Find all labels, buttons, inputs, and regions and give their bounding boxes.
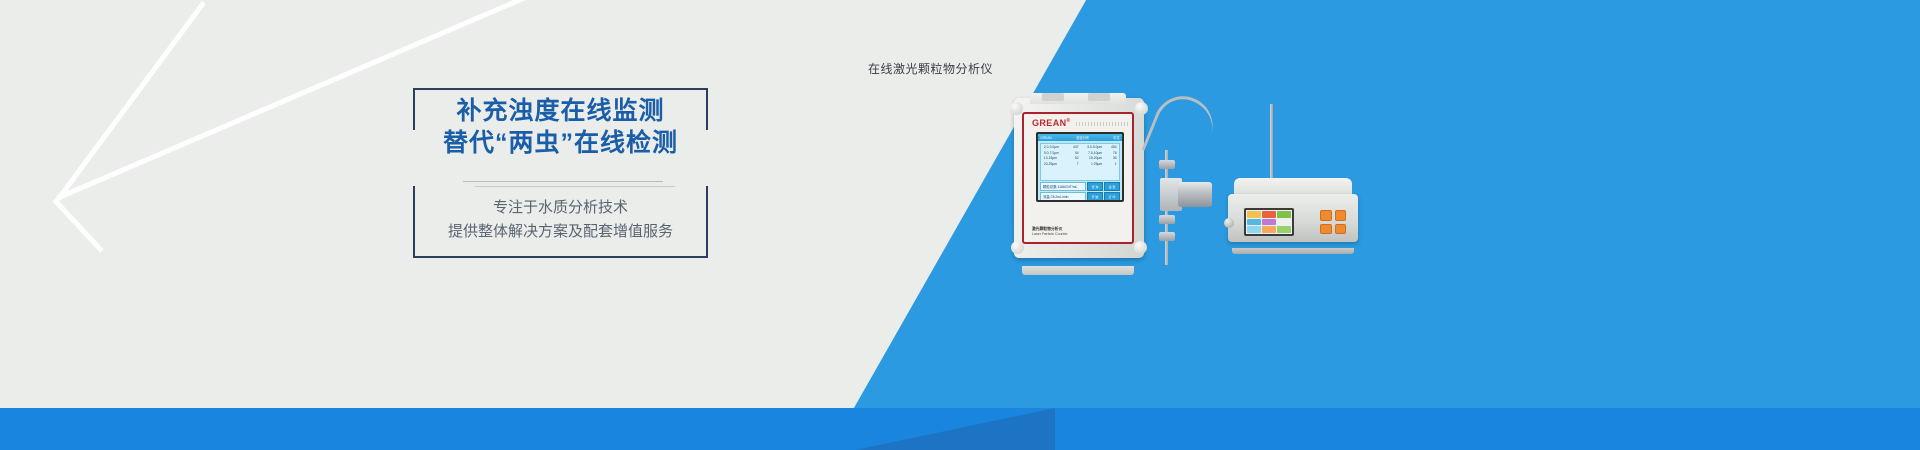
- card-border-bottom: [413, 256, 708, 258]
- headline-line-2: 替代“两虫”在线检测: [413, 128, 708, 159]
- promo-banner: 补充浊度在线监测 替代“两虫”在线检测 专注于水质分析技术 提供整体解决方案及配…: [0, 0, 1920, 450]
- card-border-top: [413, 88, 708, 90]
- benchtop-particle-counter: [1228, 178, 1358, 250]
- status-field-flow-rate: 流量:78.2mL/min: [1040, 192, 1086, 201]
- screen-title-center: 粒径分布: [1076, 135, 1089, 140]
- screen-footer: 颗粒总数:1166CNT/mL 查 询 设 置 流量:78.2mL/min 开 …: [1040, 182, 1120, 201]
- cell-range-b: 15-20μm: [1082, 156, 1102, 161]
- analyzer-lid-notch-right: [1088, 93, 1110, 101]
- callout-online-analyzer: 在线激光颗粒物分析仪: [868, 60, 993, 77]
- subtitle: 专注于水质分析技术 提供整体解决方案及配套增值服务: [413, 196, 708, 245]
- screen-button-query[interactable]: 查 询: [1087, 182, 1103, 191]
- benchtop-base: [1232, 248, 1354, 254]
- cell-range-b: 3.0-5.0μm: [1082, 145, 1102, 150]
- screen-tile: [1262, 219, 1276, 226]
- keypad-button[interactable]: [1335, 210, 1347, 221]
- screen-title-right: 中文: [1113, 135, 1119, 140]
- tube-fitting-middle: [1159, 215, 1175, 224]
- cell-count-a: 7: [1068, 162, 1078, 167]
- screen-tile: [1277, 226, 1291, 233]
- tube-fitting-upper: [1159, 160, 1175, 169]
- analyzer-model-label-en: Laser Particle Counter: [1032, 232, 1068, 236]
- analyzer-hatch-pattern: [1076, 122, 1128, 126]
- screen-button-start[interactable]: 开 始: [1087, 192, 1103, 201]
- analyzer-model-label: 激光颗粒物分析仪 Laser Particle Counter: [1032, 227, 1068, 237]
- cell-count-b: 35: [1106, 156, 1116, 161]
- bench-support-pole: [1270, 104, 1273, 182]
- analyzer-base: [1022, 266, 1134, 275]
- screen-titlebar: GREAN 粒径分布 中文: [1038, 134, 1122, 141]
- cell-count-b: 1: [1106, 162, 1116, 167]
- screen-status-row-2: 流量:78.2mL/min 开 始 打 印: [1040, 192, 1120, 201]
- inline-sensor-cylinder: [1178, 182, 1212, 207]
- cell-range-b: ＞25μm: [1082, 162, 1102, 167]
- benchtop-display-screen[interactable]: [1244, 208, 1294, 236]
- brand-trademark: ®: [1067, 118, 1071, 124]
- cell-count-a: 94: [1068, 151, 1078, 156]
- tube-fitting-lower: [1159, 232, 1175, 241]
- screen-tile: [1247, 226, 1261, 233]
- cell-range-a: 2.0-3.0μm: [1044, 145, 1064, 150]
- cell-range-a: 10-15μm: [1044, 156, 1064, 161]
- headline: 补充浊度在线监测 替代“两虫”在线检测: [413, 96, 708, 158]
- cell-count-a: 447: [1068, 145, 1078, 150]
- online-laser-particle-analyzer: GREAN® GREAN 粒径分布 中文 2.0-3.0μm 447 3.0-5…: [1008, 88, 1150, 268]
- subtitle-line-1: 专注于水质分析技术: [413, 196, 708, 220]
- screen-particle-table: 2.0-3.0μm 447 3.0-5.0μm 454 5.0-7.0μm 94…: [1040, 143, 1120, 181]
- screen-title-left: GREAN: [1040, 136, 1051, 140]
- headline-line-1: 补充浊度在线监测: [413, 96, 708, 127]
- screen-button-settings[interactable]: 设 置: [1104, 182, 1120, 191]
- analyzer-brand-logo: GREAN®: [1032, 118, 1071, 128]
- table-row: 20-25μm 7 ＞25μm 1: [1042, 162, 1118, 168]
- analyzer-display-screen[interactable]: GREAN 粒径分布 中文 2.0-3.0μm 447 3.0-5.0μm 45…: [1036, 132, 1124, 202]
- cell-range-a: 5.0-7.0μm: [1044, 151, 1064, 156]
- screen-tile: [1247, 219, 1261, 226]
- cell-count-b: 454: [1106, 145, 1116, 150]
- screen-tile: [1262, 226, 1276, 233]
- analyzer-knob-top-right: [1135, 102, 1148, 115]
- screen-status-row-1: 颗粒总数:1166CNT/mL 查 询 设 置: [1040, 182, 1120, 191]
- divider-rule-2: [475, 186, 675, 187]
- screen-tile: [1277, 219, 1291, 226]
- benchtop-keypad[interactable]: [1320, 210, 1346, 234]
- screen-tile: [1277, 211, 1291, 218]
- divider-rule-1: [463, 181, 663, 182]
- benchtop-side-knob: [1224, 218, 1234, 228]
- subtitle-line-2: 提供整体解决方案及配套增值服务: [413, 220, 708, 244]
- brand-text: GREAN: [1032, 118, 1067, 128]
- cell-count-a: 52: [1068, 156, 1078, 161]
- keypad-button[interactable]: [1320, 210, 1332, 221]
- status-field-total-count: 颗粒总数:1166CNT/mL: [1040, 182, 1086, 191]
- analyzer-knob-top-left: [1010, 102, 1023, 115]
- analyzer-knob-bottom-right: [1134, 241, 1147, 254]
- screen-tile: [1247, 211, 1261, 218]
- cell-range-b: 7.0-10μm: [1082, 151, 1102, 156]
- cell-count-b: 76: [1106, 151, 1116, 156]
- screen-tile: [1262, 211, 1276, 218]
- analyzer-front-panel: GREAN® GREAN 粒径分布 中文 2.0-3.0μm 447 3.0-5…: [1022, 112, 1134, 244]
- screen-button-print[interactable]: 打 印: [1104, 192, 1120, 201]
- keypad-button[interactable]: [1320, 224, 1332, 235]
- headline-card: 补充浊度在线监测 替代“两虫”在线检测 专注于水质分析技术 提供整体解决方案及配…: [413, 88, 708, 258]
- analyzer-lid-notch-left: [1042, 93, 1064, 101]
- cell-range-a: 20-25μm: [1044, 162, 1064, 167]
- keypad-button[interactable]: [1335, 224, 1347, 235]
